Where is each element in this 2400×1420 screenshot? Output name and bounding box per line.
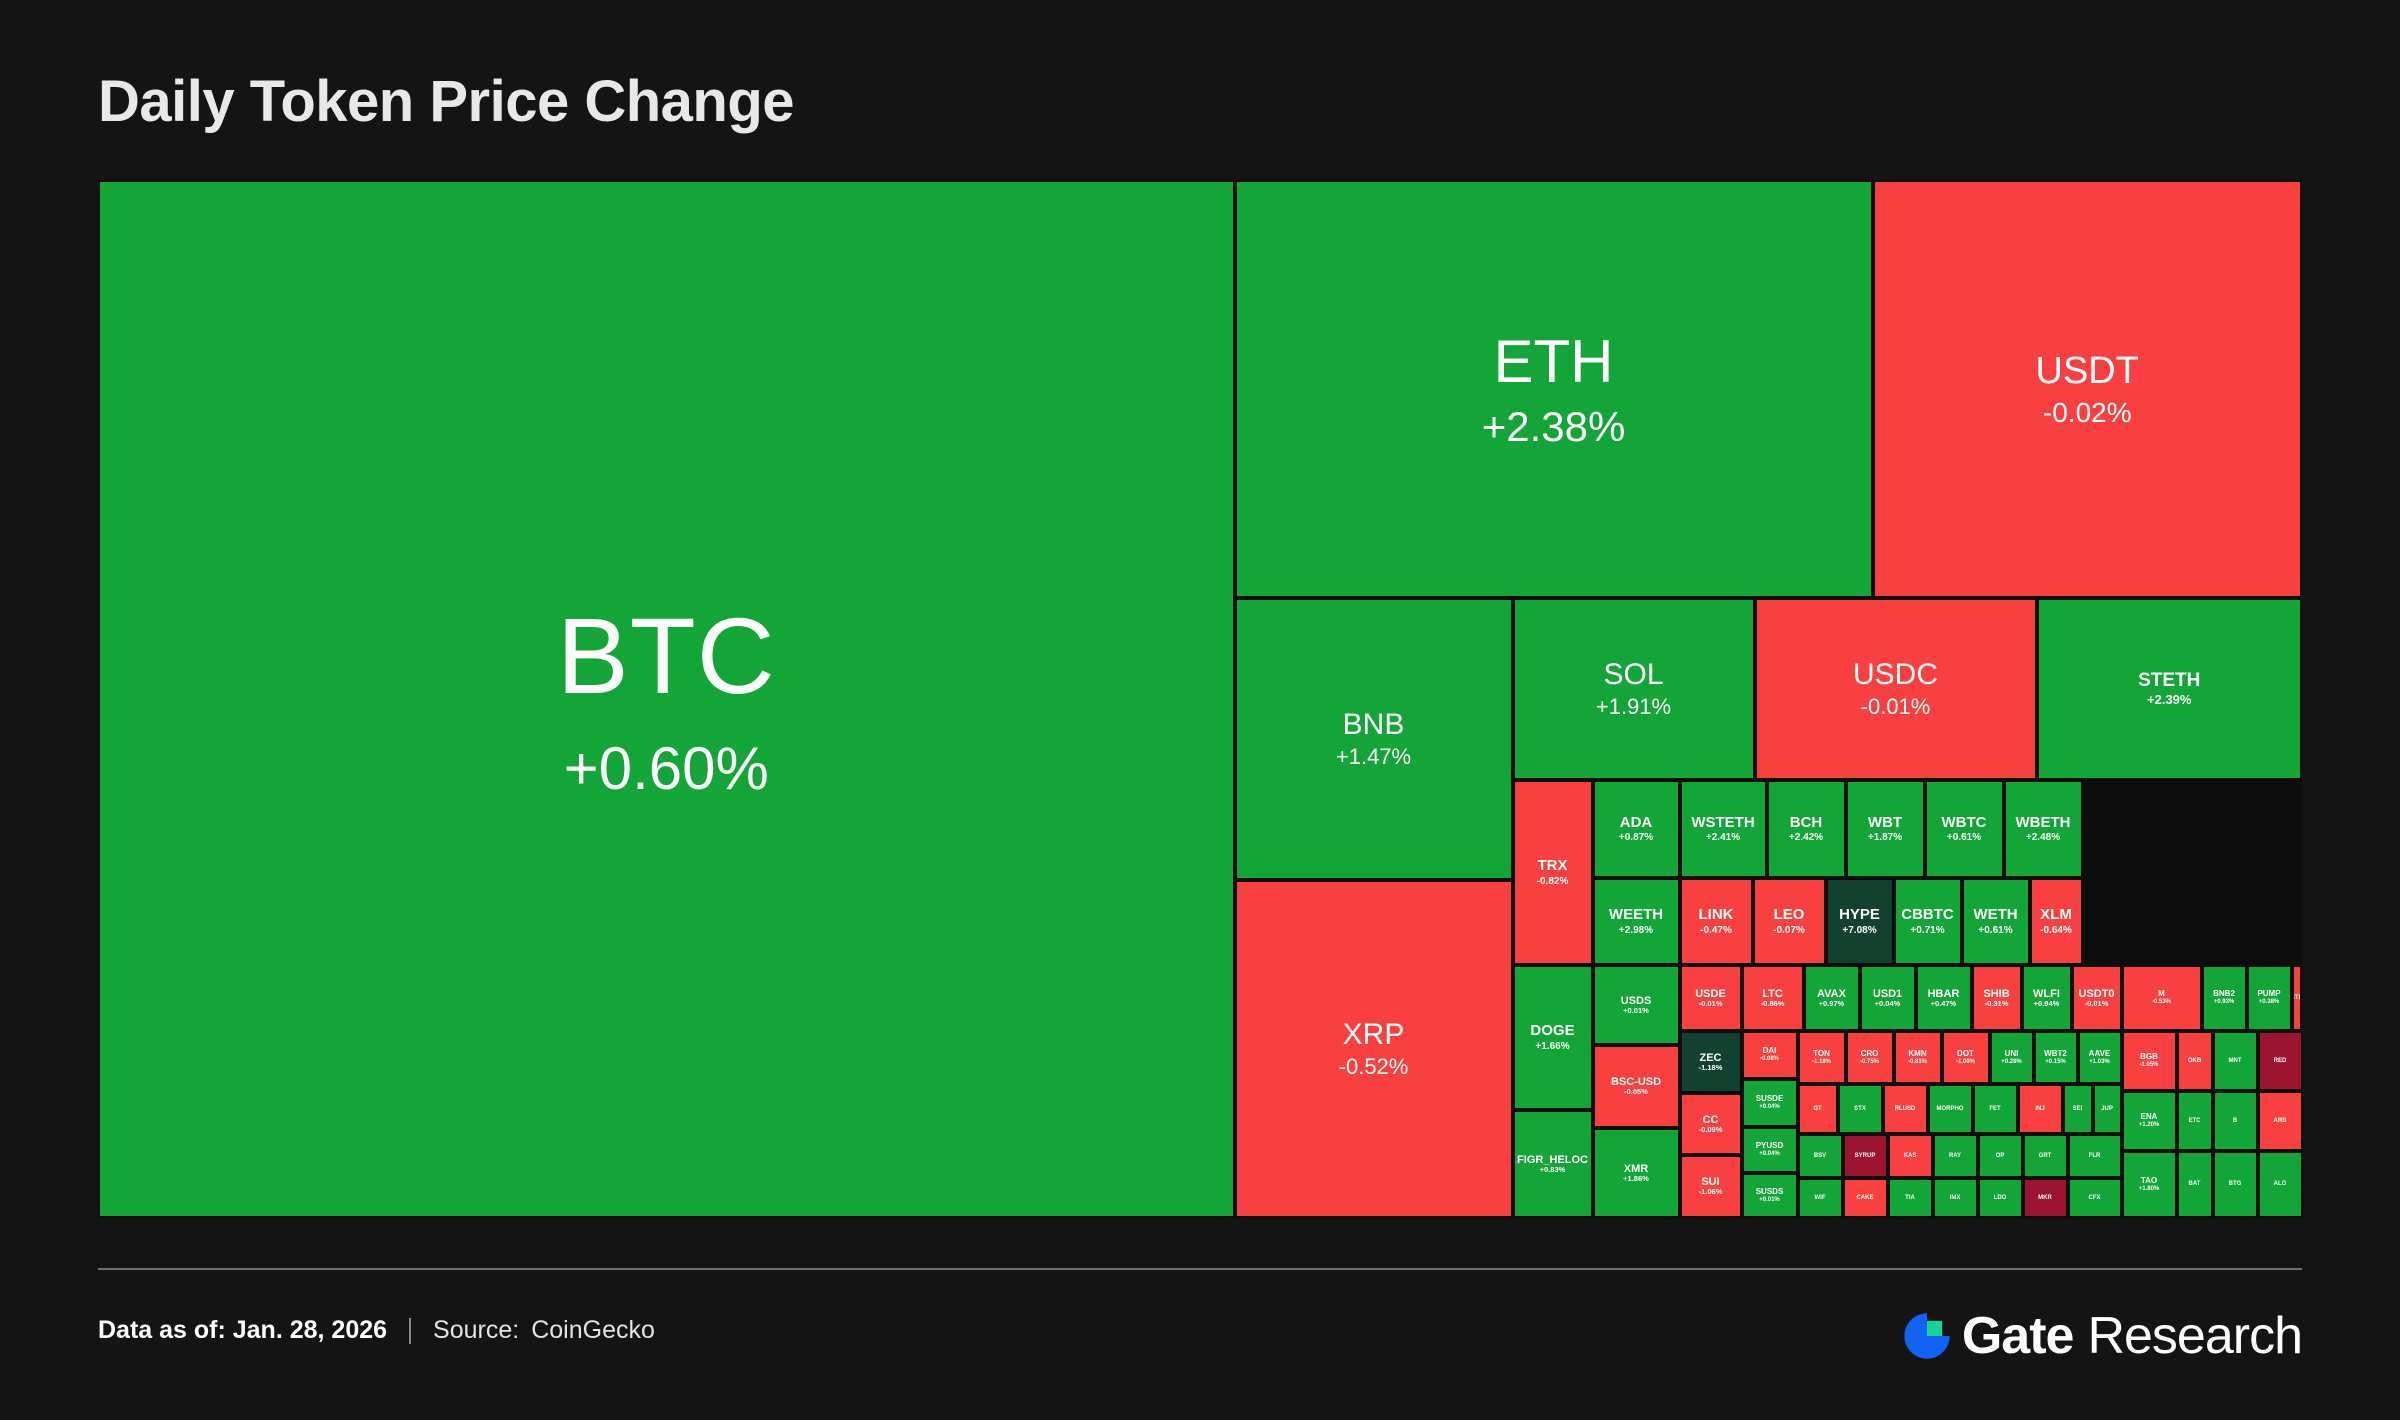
tile-symbol: SEI [2073, 1106, 2083, 1113]
treemap-tile-ldo[interactable]: LDO+0.30% [1978, 1178, 2023, 1218]
treemap-tile-susds[interactable]: SUSDS+0.01% [1742, 1173, 1798, 1218]
treemap-tile-bch[interactable]: BCH+2.42% [1767, 780, 1846, 878]
treemap-tile-uni[interactable]: UNI+0.28% [1990, 1031, 2034, 1084]
treemap-tile-zec[interactable]: ZEC-1.18% [1680, 1031, 1742, 1093]
treemap-tile-jup[interactable]: JUP+0.20% [2093, 1084, 2122, 1134]
tile-symbol: CFX [2089, 1195, 2101, 1202]
treemap-tile-wbt[interactable]: WBT+1.87% [1846, 780, 1925, 878]
treemap-tile-aave[interactable]: AAVE+1.03% [2078, 1031, 2122, 1084]
tile-symbol: BGB [2140, 1053, 2158, 1062]
tile-symbol: BSV [1814, 1153, 1826, 1160]
tile-change: +0.38% [2259, 999, 2280, 1006]
tile-change: +2.39% [2147, 693, 2191, 708]
tile-change: +0.15% [2045, 1059, 2066, 1066]
tile-symbol: RED [2274, 1058, 2287, 1065]
treemap-tile-etc[interactable]: ETC+0.40% [2177, 1091, 2213, 1151]
tile-change: +0.71% [1910, 925, 1944, 936]
tile-change: +0.87% [1619, 832, 1653, 843]
source-label: Source: [433, 1316, 519, 1345]
treemap-tile-kmn[interactable]: KMN-0.81% [1894, 1031, 1942, 1084]
tile-change: +0.93% [2214, 999, 2235, 1006]
treemap-tile-xlm[interactable]: XLM-0.64% [2030, 878, 2083, 965]
tile-symbol: CBBTC [1901, 907, 1954, 924]
treemap-tile-bsv[interactable]: BSV+0.70% [1798, 1134, 1843, 1178]
treemap-tile-m[interactable]: M-0.53% [2122, 965, 2202, 1031]
token-price-treemap[interactable]: BTC+0.60%ETH+2.38%USDT-0.02%BNB+1.47%XRP… [98, 180, 2302, 1218]
tile-symbol: PYUSD [1756, 1142, 1784, 1151]
treemap-tile-leo[interactable]: LEO-0.07% [1753, 878, 1826, 965]
tile-change: -0.53% [2152, 999, 2171, 1006]
treemap-tile-bgb[interactable]: BGB-1.05% [2122, 1031, 2177, 1091]
treemap-tile-usdt0[interactable]: USDT0-0.01% [2072, 965, 2122, 1031]
treemap-tile-btg[interactable]: BTG+0.10% [2213, 1151, 2258, 1218]
treemap-tile-bat[interactable]: BAT+0.30% [2177, 1151, 2213, 1218]
tile-symbol: WETH [1973, 907, 2017, 924]
treemap-tile-tia[interactable]: TIA+0.40% [1888, 1178, 1933, 1218]
tile-change: -0.08% [1760, 1056, 1779, 1063]
treemap-tile-syrup[interactable]: SYRUP-1.90% [1843, 1134, 1888, 1178]
treemap-tile-stx[interactable]: STX+0.50% [1838, 1084, 1883, 1134]
treemap-tile-kas[interactable]: KAS-0.50% [1888, 1134, 1933, 1178]
treemap-tile-morpho[interactable]: MORPHO+0.80% [1928, 1084, 1973, 1134]
tile-symbol: TRX [1538, 858, 1568, 875]
tile-symbol: ARB [2274, 1118, 2287, 1125]
treemap-tile-wbtc[interactable]: WBTC+0.61% [1925, 780, 2004, 878]
tile-symbol: PUMP [2257, 990, 2280, 999]
tile-symbol: GRT [2039, 1153, 2052, 1160]
treemap-tile-gt[interactable]: GT-0.30% [1798, 1084, 1838, 1134]
tile-symbol: RLUSD [1895, 1106, 1916, 1113]
tile-symbol: TIA [1905, 1195, 1915, 1202]
treemap-tile-rlusd[interactable]: RLUSD-0.01% [1883, 1084, 1928, 1134]
tile-change: -0.01% [1861, 695, 1931, 720]
tile-symbol: SOL [1603, 658, 1663, 692]
tile-change: +1.87% [1868, 832, 1902, 843]
tile-symbol: XLM [2040, 907, 2072, 924]
tile-symbol: OP [1996, 1153, 2005, 1160]
tile-symbol: ETH [1494, 328, 1614, 395]
tile-symbol: INJ [2035, 1106, 2044, 1113]
tile-symbol: SUSDS [1756, 1188, 1784, 1197]
treemap-tile-avax[interactable]: AVAX+0.97% [1804, 965, 1860, 1031]
tile-symbol: DOGE [1530, 1023, 1574, 1040]
tile-symbol: HYPE [1839, 907, 1880, 924]
tile-change: -0.86% [1761, 1000, 1785, 1008]
tile-change: +0.28% [2001, 1059, 2022, 1066]
treemap-tile-wsteth[interactable]: WSTETH+2.41% [1680, 780, 1767, 878]
tile-symbol: WBTC [1942, 815, 1987, 832]
tile-symbol: TAO [2141, 1177, 2157, 1186]
tile-change: +1.80% [2139, 1186, 2160, 1193]
tile-symbol: DAI [1763, 1047, 1777, 1056]
tile-symbol: BCH [1790, 815, 1823, 832]
tile-change: -1.06% [1699, 1188, 1723, 1196]
tile-symbol: WBT2 [2044, 1050, 2067, 1059]
tile-change: +0.97% [1819, 1000, 1845, 1008]
tile-change: -0.31% [1985, 1000, 2009, 1008]
treemap-tile-inj[interactable]: INJ-0.40% [2018, 1084, 2063, 1134]
tile-symbol: TON [1813, 1050, 1830, 1059]
tile-symbol: BTC [557, 596, 776, 717]
tile-change: +1.47% [1336, 745, 1411, 770]
brand-research-text: Research [2087, 1306, 2302, 1366]
treemap-tile-cro[interactable]: CRO-0.75% [1846, 1031, 1894, 1084]
tile-change: +0.83% [1540, 1166, 1566, 1174]
tile-change: -0.81% [1908, 1059, 1927, 1066]
tile-symbol: STETH [2138, 670, 2200, 691]
tile-symbol: LDO [1994, 1195, 2007, 1202]
treemap-tile-fet[interactable]: FET+0.60% [1973, 1084, 2018, 1134]
tile-change: +0.01% [1759, 1197, 1780, 1204]
treemap-tile-figr_heloc[interactable]: FIGR_HELOC+0.83% [1513, 1110, 1593, 1218]
tile-symbol: WIF [1815, 1195, 1826, 1202]
tile-symbol: ENA [2141, 1113, 2158, 1122]
tile-change: -1.00% [1956, 1059, 1975, 1066]
tile-change: +0.94% [2034, 1000, 2060, 1008]
tile-symbol: CAKE [1856, 1195, 1873, 1202]
tile-symbol: FLR [2089, 1153, 2101, 1160]
tile-symbol: KMN [1908, 1050, 1926, 1059]
treemap-tile-dot[interactable]: DOT-1.00% [1942, 1031, 1990, 1084]
tile-change: -0.47% [1700, 925, 1732, 936]
treemap-tile-usdt[interactable]: USDT-0.02% [1873, 180, 2303, 598]
tile-change: -0.05% [1624, 1088, 1648, 1096]
footer-pipe-divider [409, 1318, 411, 1344]
treemap-tile-alg[interactable]: ALG+0.20% [2258, 1151, 2303, 1218]
tile-symbol: LEO [1774, 907, 1805, 924]
tile-change: +2.42% [1789, 832, 1823, 843]
tile-symbol: OKB [2188, 1058, 2201, 1065]
tile-change: -0.52% [1339, 1055, 1409, 1080]
treemap-tile-bsc-usd[interactable]: BSC-USD-0.05% [1593, 1045, 1680, 1128]
tile-change: +0.47% [1931, 1000, 1957, 1008]
tile-symbol: SYRUP [1855, 1153, 1876, 1160]
treemap-tile-bnb[interactable]: BNB+1.47% [1235, 598, 1513, 880]
treemap-tile-pyusd[interactable]: PYUSD+0.04% [1742, 1127, 1798, 1173]
treemap-tile-flr[interactable]: FLR+0.20% [2068, 1134, 2122, 1178]
treemap-tile-hbar[interactable]: HBAR+0.47% [1916, 965, 1972, 1031]
tile-symbol: ASTER [2292, 995, 2303, 1002]
treemap-tile-mkr[interactable]: MKR-0.40% [2023, 1178, 2068, 1218]
tile-symbol: RAY [1949, 1153, 1961, 1160]
tile-symbol: BNB2 [2213, 990, 2235, 999]
treemap-tile-ltc[interactable]: LTC-0.86% [1742, 965, 1804, 1031]
tile-symbol: B [2233, 1118, 2237, 1125]
tile-symbol: BTG [2229, 1181, 2242, 1188]
treemap-tile-cfx[interactable]: CFX+0.20% [2068, 1178, 2122, 1218]
tile-change: +7.08% [1842, 925, 1876, 936]
tile-symbol: CRO [1861, 1050, 1879, 1059]
gate-research-logo: Gate Research [1900, 1306, 2302, 1366]
tile-change: +2.38% [1482, 403, 1626, 450]
tile-change: -0.01% [1699, 1000, 1723, 1008]
treemap-tile-cc[interactable]: CC-0.09% [1680, 1093, 1742, 1155]
tile-symbol: DOT [1957, 1050, 1974, 1059]
tile-change: +1.03% [2089, 1059, 2110, 1066]
treemap-page: Daily Token Price Change BTC+0.60%ETH+2.… [0, 0, 2400, 1420]
treemap-tile-cake[interactable]: CAKE-0.70% [1843, 1178, 1888, 1218]
tile-change: +0.60% [564, 735, 769, 802]
treemap-tile-mnt[interactable]: MNT+0.20% [2213, 1031, 2258, 1091]
treemap-tile-usde[interactable]: USDE-0.01% [1680, 965, 1742, 1031]
tile-change: -0.09% [1699, 1126, 1723, 1134]
treemap-tile-op[interactable]: OP+0.30% [1978, 1134, 2023, 1178]
tile-symbol: LINK [1699, 907, 1734, 924]
treemap-tile-hype[interactable]: HYPE+7.08% [1826, 878, 1894, 965]
tile-change: +2.98% [1619, 925, 1653, 936]
tile-symbol: WEETH [1609, 907, 1663, 924]
treemap-tile-okb[interactable]: OKB-0.90% [2177, 1031, 2213, 1091]
tile-symbol: USDT [2036, 350, 2139, 393]
treemap-tile-ada[interactable]: ADA+0.87% [1593, 780, 1680, 878]
tile-change: +1.86% [1623, 1175, 1649, 1183]
treemap-tile-dai[interactable]: DAI-0.08% [1742, 1031, 1798, 1079]
page-title: Daily Token Price Change [98, 68, 794, 135]
tile-change: -0.75% [1860, 1059, 1879, 1066]
treemap-tile-ena[interactable]: ENA+1.20% [2122, 1091, 2177, 1151]
gate-logo-icon [1900, 1309, 1954, 1363]
tile-symbol: IMX [1950, 1195, 1961, 1202]
tile-symbol: FET [1989, 1106, 2000, 1113]
tile-symbol: WBETH [2016, 815, 2071, 832]
tile-symbol: SUSDE [1756, 1095, 1784, 1104]
treemap-tile-wbt2[interactable]: WBT2+0.15% [2034, 1031, 2078, 1084]
treemap-tile-bnb2[interactable]: BNB2+0.93% [2202, 965, 2247, 1031]
treemap-tile-grt[interactable]: GRT+0.60% [2023, 1134, 2068, 1178]
treemap-tile-tao[interactable]: TAO+1.80% [2122, 1151, 2177, 1218]
tile-change: +0.04% [1759, 1151, 1780, 1158]
treemap-tile-shib[interactable]: SHIB-0.31% [1972, 965, 2022, 1031]
brand-gate-text: Gate [1962, 1306, 2074, 1366]
tile-symbol: USDC [1853, 658, 1938, 692]
treemap-tile-usds[interactable]: USDS+0.01% [1593, 965, 1680, 1045]
treemap-tile-sei[interactable]: SEI+0.30% [2063, 1084, 2093, 1134]
treemap-tile-xrp[interactable]: XRP-0.52% [1235, 880, 1513, 1218]
source-name: CoinGecko [531, 1316, 655, 1345]
treemap-tile-sol[interactable]: SOL+1.91% [1513, 598, 1755, 780]
treemap-tile-cbbtc[interactable]: CBBTC+0.71% [1894, 878, 1962, 965]
tile-symbol: JUP [2101, 1106, 2113, 1113]
tile-symbol: STX [1854, 1106, 1866, 1113]
treemap-tile-sui[interactable]: SUI-1.06% [1680, 1155, 1742, 1218]
tile-symbol: M [2158, 990, 2165, 999]
tile-symbol: WBT [1868, 815, 1902, 832]
tile-symbol: MORPHO [1937, 1106, 1964, 1113]
treemap-tile-wbeth[interactable]: WBETH+2.48% [2004, 780, 2083, 878]
tile-change: +2.41% [1706, 832, 1740, 843]
footer-divider-rule [98, 1268, 2302, 1270]
tile-symbol: ADA [1620, 815, 1653, 832]
footer-meta: Data as of: Jan. 28, 2026 Source: CoinGe… [98, 1316, 655, 1345]
tile-change: -0.02% [2043, 397, 2132, 428]
tile-change: -0.82% [1537, 876, 1569, 887]
tile-change: +0.61% [1978, 925, 2012, 936]
treemap-tile-xmr[interactable]: XMR+1.86% [1593, 1128, 1680, 1218]
treemap-tile-b[interactable]: B+0.10% [2213, 1091, 2258, 1151]
treemap-tile-doge[interactable]: DOGE+1.66% [1513, 965, 1593, 1110]
tile-change: -1.18% [1699, 1064, 1723, 1072]
treemap-tile-imx[interactable]: IMX+0.50% [1933, 1178, 1978, 1218]
tile-change: +1.91% [1596, 695, 1671, 720]
treemap-tile-susde[interactable]: SUSDE+0.04% [1742, 1079, 1798, 1127]
tile-change: -0.07% [1773, 925, 1805, 936]
tile-symbol: KAS [1904, 1153, 1917, 1160]
treemap-tile-btc[interactable]: BTC+0.60% [98, 180, 1235, 1218]
treemap-tile-arb[interactable]: ARB-0.60% [2258, 1091, 2303, 1151]
tile-symbol: UNI [2005, 1050, 2019, 1059]
tile-change: -1.05% [2139, 1062, 2158, 1069]
tile-change: +0.04% [1875, 1000, 1901, 1008]
treemap-tile-pump[interactable]: PUMP+0.38% [2247, 965, 2292, 1031]
treemap-tile-weeth[interactable]: WEETH+2.98% [1593, 878, 1680, 965]
treemap-tile-wif[interactable]: WIF+0.50% [1798, 1178, 1843, 1218]
tile-change: -0.01% [2085, 1000, 2109, 1008]
tile-symbol: BNB [1343, 708, 1405, 742]
treemap-tile-ton[interactable]: TON-1.18% [1798, 1031, 1846, 1084]
treemap-tile-usd1[interactable]: USD1+0.04% [1860, 965, 1916, 1031]
treemap-tile-eth[interactable]: ETH+2.38% [1235, 180, 1873, 598]
tile-symbol: GT [1813, 1106, 1821, 1113]
treemap-tile-usdc[interactable]: USDC-0.01% [1755, 598, 2037, 780]
treemap-tile-weth[interactable]: WETH+0.61% [1962, 878, 2030, 965]
tile-symbol: ETC [2189, 1118, 2201, 1125]
tile-change: +2.48% [2026, 832, 2060, 843]
data-as-of-label: Data as of: Jan. 28, 2026 [98, 1316, 387, 1345]
tile-symbol: BAT [2189, 1181, 2201, 1188]
tile-change: -1.18% [1812, 1059, 1831, 1066]
tile-symbol: MKR [2038, 1195, 2052, 1202]
tile-change: +1.20% [2139, 1122, 2160, 1129]
treemap-tile-red[interactable]: RED-2.80% [2258, 1031, 2303, 1091]
treemap-tile-ray[interactable]: RAY+0.40% [1933, 1134, 1978, 1178]
tile-symbol: AAVE [2089, 1050, 2111, 1059]
tile-symbol: ALG [2274, 1181, 2287, 1188]
tile-change: +1.66% [1535, 1041, 1569, 1052]
tile-symbol: MNT [2229, 1058, 2242, 1065]
tile-symbol: XRP [1343, 1018, 1405, 1052]
tile-change: +0.04% [1759, 1104, 1780, 1111]
treemap-tile-wlfi[interactable]: WLFI+0.94% [2022, 965, 2072, 1031]
treemap-tile-steth[interactable]: STETH+2.39% [2037, 598, 2303, 780]
treemap-tile-link[interactable]: LINK-0.47% [1680, 878, 1753, 965]
treemap-tile-trx[interactable]: TRX-0.82% [1513, 780, 1593, 965]
tile-change: +0.01% [1623, 1007, 1649, 1015]
tile-symbol: WSTETH [1691, 815, 1754, 832]
tile-change: +0.61% [1947, 832, 1981, 843]
treemap-tile-aster[interactable]: ASTER-0.55% [2292, 965, 2303, 1031]
tile-change: -0.64% [2040, 925, 2072, 936]
